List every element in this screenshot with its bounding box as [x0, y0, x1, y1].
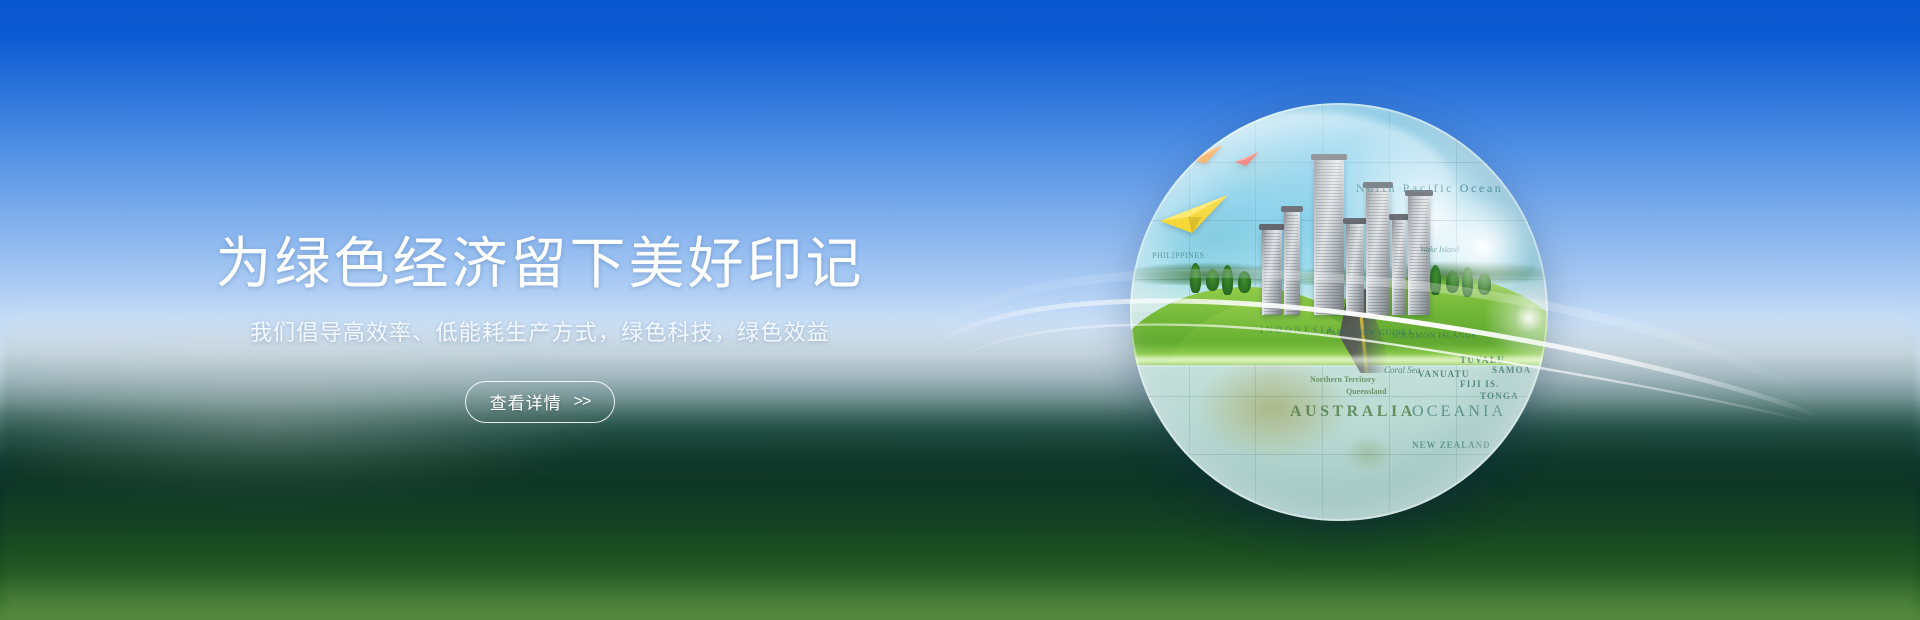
- banner-copy-block: 为绿色经济留下美好印记 我们倡导高效率、低能耗生产方式，绿色科技，绿色效益 查看…: [0, 0, 1080, 620]
- paper-plane-red-icon: [1234, 151, 1260, 167]
- cta-container: 查看详情 >>: [465, 381, 616, 423]
- page-title: 为绿色经济留下美好印记: [216, 233, 865, 295]
- hero-banner: North Pacific Ocean Wake Island PHILIPPI…: [0, 0, 1920, 620]
- view-details-button[interactable]: 查看详情 >>: [465, 381, 616, 423]
- chevron-right-icon: >>: [574, 393, 591, 411]
- globe-sphere: North Pacific Ocean Wake Island PHILIPPI…: [1130, 103, 1548, 521]
- globe-illustration: North Pacific Ocean Wake Island PHILIPPI…: [1130, 103, 1548, 521]
- view-details-label: 查看详情: [490, 389, 562, 414]
- paper-plane-yellow-icon: [1158, 191, 1230, 235]
- banner-subtitle: 我们倡导高效率、低能耗生产方式，绿色科技，绿色效益: [250, 317, 830, 349]
- globe-city-skyline: [1258, 145, 1448, 315]
- paper-plane-orange-icon: [1188, 143, 1224, 165]
